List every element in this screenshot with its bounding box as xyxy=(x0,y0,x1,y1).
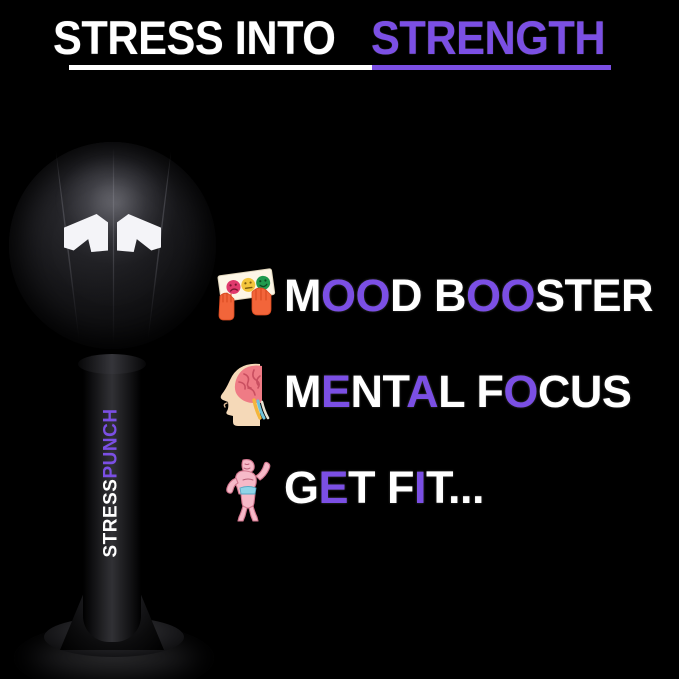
segment: G xyxy=(284,462,319,513)
title-part-white: STRESS INTO xyxy=(53,14,335,61)
mood-survey-hands-icon xyxy=(212,260,284,332)
segment: L F xyxy=(438,366,503,417)
title-line: STRESS INTOSTRENGTH xyxy=(53,14,626,61)
product-brand-label: STRESSPUNCH xyxy=(84,378,140,588)
segment: A xyxy=(406,366,438,417)
brand-word-stress: STRESS xyxy=(101,479,122,558)
title-underline xyxy=(69,65,611,70)
segment: CUS xyxy=(538,366,632,417)
eye-left xyxy=(64,214,108,252)
segment: E xyxy=(319,462,349,513)
segment: D xyxy=(390,270,422,321)
segment: M xyxy=(284,270,321,321)
eye-right xyxy=(117,214,161,252)
head-brain-icon xyxy=(212,356,284,428)
benefit-item-get-fit: GET FIT... xyxy=(212,440,679,536)
product-image: STRESSPUNCH xyxy=(0,128,240,588)
segment: B xyxy=(422,270,466,321)
benefits-list: MOOD BOOSTER xyxy=(212,248,679,536)
title-underline-purple xyxy=(372,65,611,70)
segment: OO xyxy=(466,270,535,321)
segment: OO xyxy=(321,270,390,321)
stand-collar xyxy=(78,354,146,374)
promo-poster: STRESS INTOSTRENGTH STRESSPUNCH xyxy=(0,0,679,679)
product-brand-text: STRESSPUNCH xyxy=(101,408,123,557)
poster-title: STRESS INTOSTRENGTH xyxy=(0,14,679,70)
title-part-purple: STRENGTH xyxy=(371,14,605,61)
segment: I xyxy=(414,462,426,513)
angry-eyes-icon xyxy=(9,214,216,260)
segment: O xyxy=(503,366,538,417)
punching-ball xyxy=(9,142,216,349)
flexing-bodybuilder-icon xyxy=(212,452,284,524)
segment: T F xyxy=(348,462,414,513)
benefit-item-mood-booster: MOOD BOOSTER xyxy=(212,248,679,344)
benefit-label-mental-focus: MENTAL FOCUS xyxy=(284,366,631,418)
benefit-label-get-fit: GET FIT... xyxy=(284,462,484,514)
title-underline-white xyxy=(69,65,372,70)
brand-word-punch: PUNCH xyxy=(101,408,122,478)
benefit-item-mental-focus: MENTAL FOCUS xyxy=(212,344,679,440)
segment: STER xyxy=(535,270,653,321)
segment: T... xyxy=(426,462,484,513)
benefit-label-mood-booster: MOOD BOOSTER xyxy=(284,270,653,322)
segment: NT xyxy=(351,366,407,417)
segment: M xyxy=(284,366,321,417)
segment: E xyxy=(321,366,351,417)
